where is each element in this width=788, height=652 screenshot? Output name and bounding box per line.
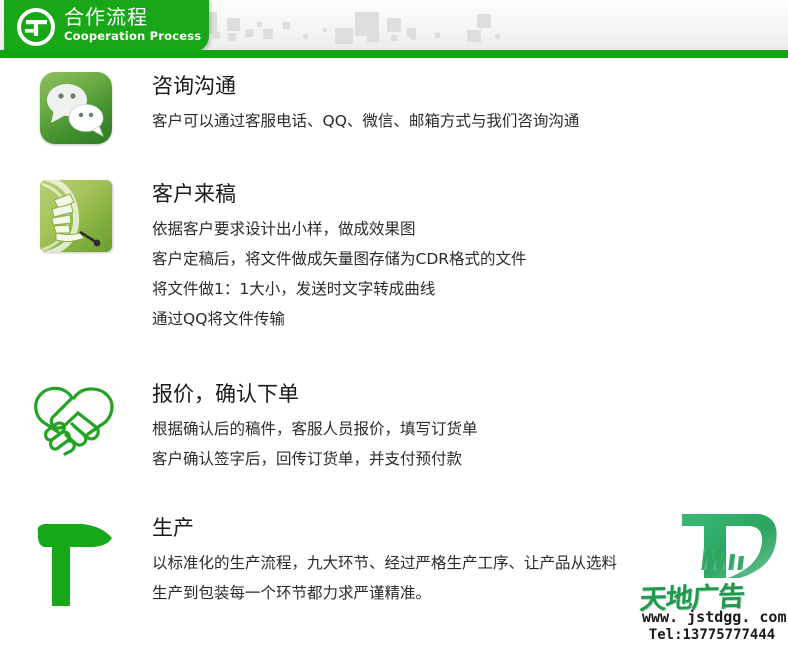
step-line: 客户确认签字后，回传订货单，并支付预付款	[152, 444, 772, 474]
step-body: 咨询沟通 客户可以通过客服电话、QQ、微信、邮箱方式与我们咨询沟通	[152, 72, 772, 136]
step-icon-wrapper	[40, 72, 112, 144]
step-line: 客户定稿后，将文件做成矢量图存储为CDR格式的文件	[152, 244, 772, 274]
step-line: 依据客户要求设计出小样，做成效果图	[152, 214, 772, 244]
step-icon-wrapper	[26, 514, 122, 610]
wechat-icon	[40, 72, 112, 144]
hand-drawing-icon	[40, 180, 112, 252]
tab-title-cn: 合作流程	[64, 5, 201, 29]
hammer-icon	[26, 514, 122, 610]
step-body: 客户来稿 依据客户要求设计出小样，做成效果图 客户定稿后，将文件做成矢量图存储为…	[152, 180, 772, 334]
step-line: 通过QQ将文件传输	[152, 304, 772, 334]
step-line: 根据确认后的稿件，客服人员报价，填写订货单	[152, 414, 772, 444]
step-icon-wrapper	[40, 180, 112, 252]
step-body: 报价，确认下单 根据确认后的稿件，客服人员报价，填写订货单 客户确认签字后，回传…	[152, 380, 772, 474]
step-line: 将文件做1：1大小，发送时文字转成曲线	[152, 274, 772, 304]
header-decorative-squares	[195, 0, 788, 50]
step-line: 客户可以通过客服电话、QQ、微信、邮箱方式与我们咨询沟通	[152, 106, 772, 136]
step-title: 报价，确认下单	[152, 380, 772, 408]
step-title: 客户来稿	[152, 180, 772, 208]
step-line: 以标准化的生产流程，九大环节、经过严格生产工序、让产品从选料	[152, 548, 772, 578]
step-body: 生产 以标准化的生产流程，九大环节、经过严格生产工序、让产品从选料 生产到包装每…	[152, 514, 772, 608]
step-title: 咨询沟通	[152, 72, 772, 100]
tab-cooperation-process[interactable]: 合作流程 Cooperation Process	[4, 0, 209, 52]
process-steps-list: 咨询沟通 客户可以通过客服电话、QQ、微信、邮箱方式与我们咨询沟通	[0, 58, 788, 652]
tab-title-en: Cooperation Process	[64, 29, 201, 43]
step-title: 生产	[152, 514, 772, 542]
handshake-icon	[26, 380, 122, 452]
company-circle-tg-logo-icon	[17, 8, 55, 46]
step-line: 生产到包装每一个环节都力求严谨精准。	[152, 578, 772, 608]
header-accent-bar	[0, 50, 788, 58]
step-icon-wrapper	[26, 380, 122, 452]
page-header: 合作流程 Cooperation Process	[0, 0, 788, 58]
